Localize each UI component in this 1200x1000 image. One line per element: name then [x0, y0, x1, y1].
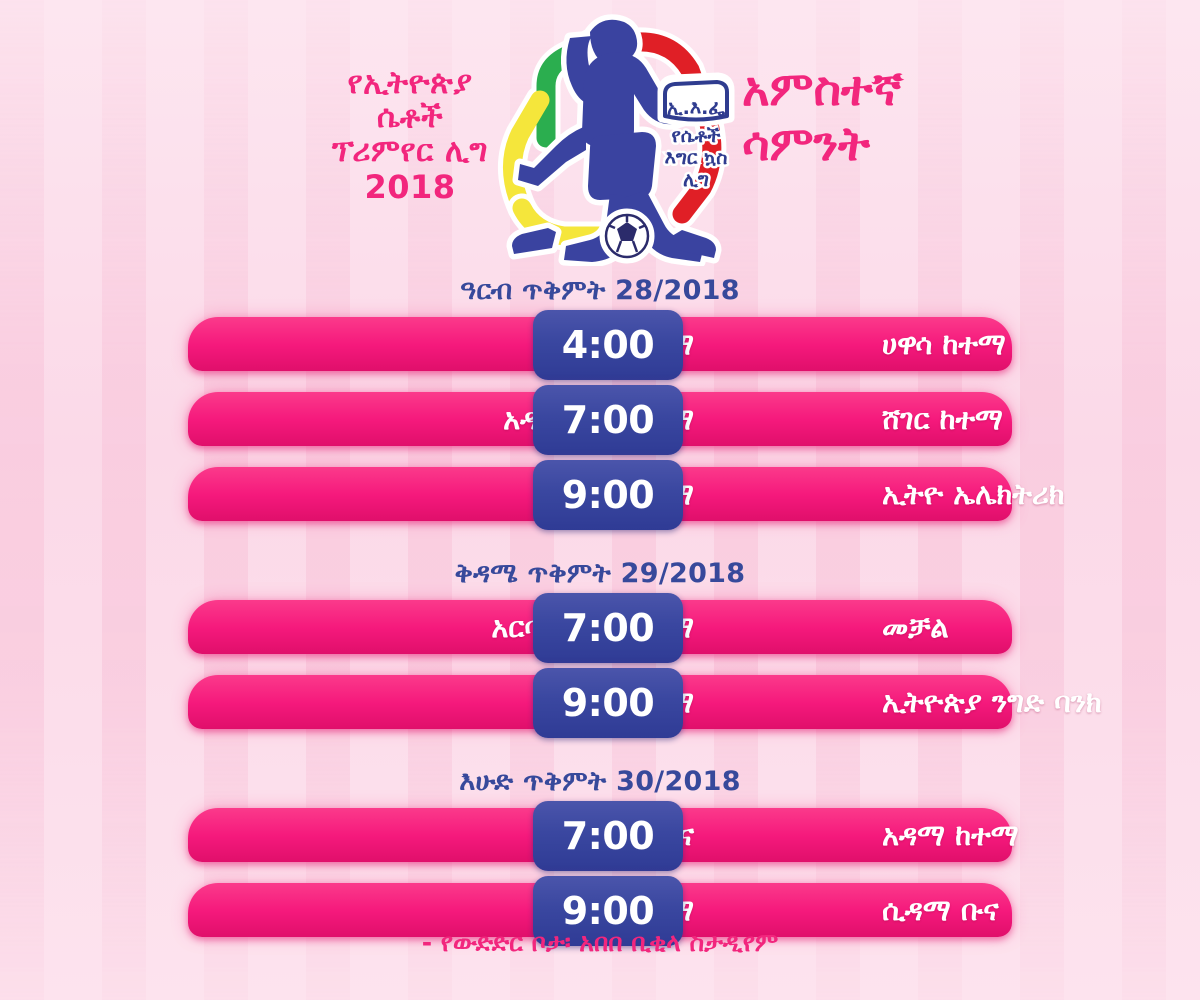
- away-team: ኢትዮ ኤሌክትሪክ: [882, 467, 1162, 521]
- match-row[interactable]: ቦሌ ክ/ከተማ 9:00 ኢትዮጵያ ንግድ ባንክ: [188, 672, 1012, 732]
- svg-text:የሴቶች: የሴቶች: [671, 125, 721, 147]
- day-header-date: እሁድ ጥቅምት 30/2018: [0, 759, 1200, 805]
- day-header-date: ዓርብ ጥቅምት 28/2018: [0, 268, 1200, 314]
- match-time-badge: 4:00: [533, 310, 683, 380]
- match-row[interactable]: ድሬዳዋ ከተማ 4:00 ሀዋሳ ከተማ: [188, 314, 1012, 374]
- match-row[interactable]: ልደታ ክ/ከተማ 9:00 ኢትዮ ኤሌክትሪክ: [188, 464, 1012, 524]
- match-row[interactable]: አዲስ አበባ ከተማ 7:00 ሸገር ከተማ: [188, 389, 1012, 449]
- poster-header: የኢትዮጵያ ሴቶች ፕሪምየር ሊግ 2018: [0, 0, 1200, 268]
- week-title: አምስተኛ ሳምንት: [742, 62, 1002, 172]
- away-team: አዳማ ከተማ: [882, 808, 1162, 862]
- match-time-badge: 9:00: [533, 460, 683, 530]
- svg-text:እግር ኳስ: እግር ኳስ: [665, 147, 728, 169]
- match-time-badge: 9:00: [533, 668, 683, 738]
- match-row[interactable]: አርባምንጬ ከተማ 7:00 መቻል: [188, 597, 1012, 657]
- federation-logo: ኢ.እ.ፌ የሴቶች እግር ኳስ ሊግ የሴቶች እግር ኳስ ሊግ: [486, 8, 750, 266]
- match-row[interactable]: ደርጋጬፌ ቡና 7:00 አዳማ ከተማ: [188, 805, 1012, 865]
- away-team: ሸገር ከተማ: [882, 392, 1162, 446]
- svg-text:ሊግ: ሊግ: [683, 169, 709, 191]
- away-team: ሀዋሳ ከተማ: [882, 317, 1162, 371]
- day-block: ዓርብ ጥቅምት 28/2018 ድሬዳዋ ከተማ 4:00 ሀዋሳ ከተማ አ…: [0, 268, 1200, 524]
- day-spacer: [0, 747, 1200, 759]
- venue-note: - የውድድር ቦታ፡ አበበ ቢቂላ ስታዲየም: [0, 928, 1200, 958]
- shield-text: ኢ.እ.ፌ: [667, 97, 725, 119]
- match-time-badge: 7:00: [533, 593, 683, 663]
- federation-shield: ኢ.እ.ፌ: [662, 77, 730, 122]
- away-team: ኢትዮጵያ ንግድ ባንክ: [882, 675, 1162, 729]
- day-header-date: ቅዳሜ ጥቅምት 29/2018: [0, 551, 1200, 597]
- match-time-badge: 7:00: [533, 801, 683, 871]
- match-time-badge: 7:00: [533, 385, 683, 455]
- week-title-line-1: አምስተኛ: [742, 62, 1002, 117]
- away-team: መቻል: [882, 600, 1162, 654]
- day-block: ቅዳሜ ጥቅምት 29/2018 አርባምንጬ ከተማ 7:00 መቻል ቦሌ …: [0, 551, 1200, 732]
- week-title-line-2: ሳምንት: [742, 117, 1002, 172]
- match-schedule: ዓርብ ጥቅምት 28/2018 ድሬዳዋ ከተማ 4:00 ሀዋሳ ከተማ አ…: [0, 268, 1200, 955]
- soccer-ball-icon: [603, 212, 651, 260]
- poster-page: የኢትዮጵያ ሴቶች ፕሪምየር ሊግ 2018: [0, 0, 1200, 1000]
- day-block: እሁድ ጥቅምት 30/2018 ደርጋጬፌ ቡና 7:00 አዳማ ከተማ ባ…: [0, 759, 1200, 940]
- day-spacer: [0, 539, 1200, 551]
